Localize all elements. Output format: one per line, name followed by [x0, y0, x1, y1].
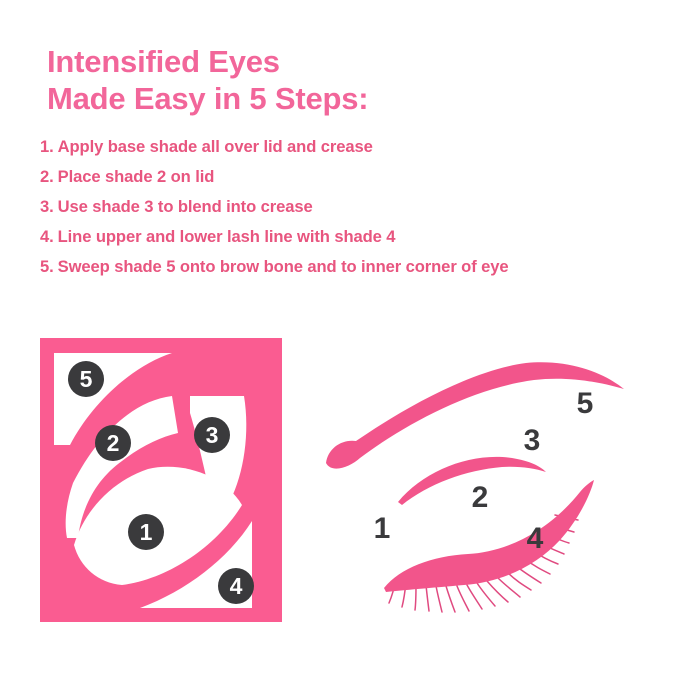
eye-diagram: 1 2 3 4 5	[312, 340, 642, 620]
step-item-2: 2. Place shade 2 on lid	[40, 169, 650, 199]
stencil-badge-4: 4	[218, 568, 254, 604]
stencil-badge-5: 5	[68, 361, 104, 397]
eye-number-3: 3	[524, 424, 541, 457]
eye-number-4: 4	[527, 522, 544, 555]
stencil-badge-1: 1	[128, 514, 164, 550]
poster-root: Intensified Eyes Made Easy in 5 Steps: 1…	[0, 0, 679, 679]
step-number-2: 2.	[40, 169, 54, 186]
step-text-2: Place shade 2 on lid	[58, 169, 215, 186]
eye-number-2: 2	[472, 481, 489, 514]
step-text-3: Use shade 3 to blend into crease	[58, 199, 313, 216]
badge-label-4: 4	[230, 573, 243, 599]
lash-line	[384, 480, 594, 592]
stencil-diagram: 5 2 3 1 4	[36, 333, 286, 627]
stencil-badge-3: 3	[194, 417, 230, 453]
page-title: Intensified Eyes Made Easy in 5 Steps:	[47, 44, 627, 117]
step-text-4: Line upper and lower lash line with shad…	[58, 229, 396, 246]
step-item-4: 4. Line upper and lower lash line with s…	[40, 229, 650, 259]
step-number-4: 4.	[40, 229, 54, 246]
badge-label-3: 3	[206, 422, 219, 448]
step-item-5: 5. Sweep shade 5 onto brow bone and to i…	[40, 259, 650, 289]
step-text-5: Sweep shade 5 onto brow bone and to inne…	[58, 259, 509, 276]
title-line-2: Made Easy in 5 Steps:	[47, 81, 627, 118]
steps-list: 1. Apply base shade all over lid and cre…	[40, 139, 650, 289]
step-text-1: Apply base shade all over lid and crease	[58, 139, 373, 156]
step-item-3: 3. Use shade 3 to blend into crease	[40, 199, 650, 229]
stencil-badge-2: 2	[95, 425, 131, 461]
title-line-1: Intensified Eyes	[47, 44, 627, 81]
step-item-1: 1. Apply base shade all over lid and cre…	[40, 139, 650, 169]
step-number-1: 1.	[40, 139, 54, 156]
eye-number-1: 1	[374, 512, 391, 545]
badge-label-2: 2	[107, 430, 120, 456]
badge-label-1: 1	[140, 519, 153, 545]
badge-label-5: 5	[80, 366, 93, 392]
eye-number-5: 5	[577, 387, 594, 420]
step-number-5: 5.	[40, 259, 54, 276]
step-number-3: 3.	[40, 199, 54, 216]
